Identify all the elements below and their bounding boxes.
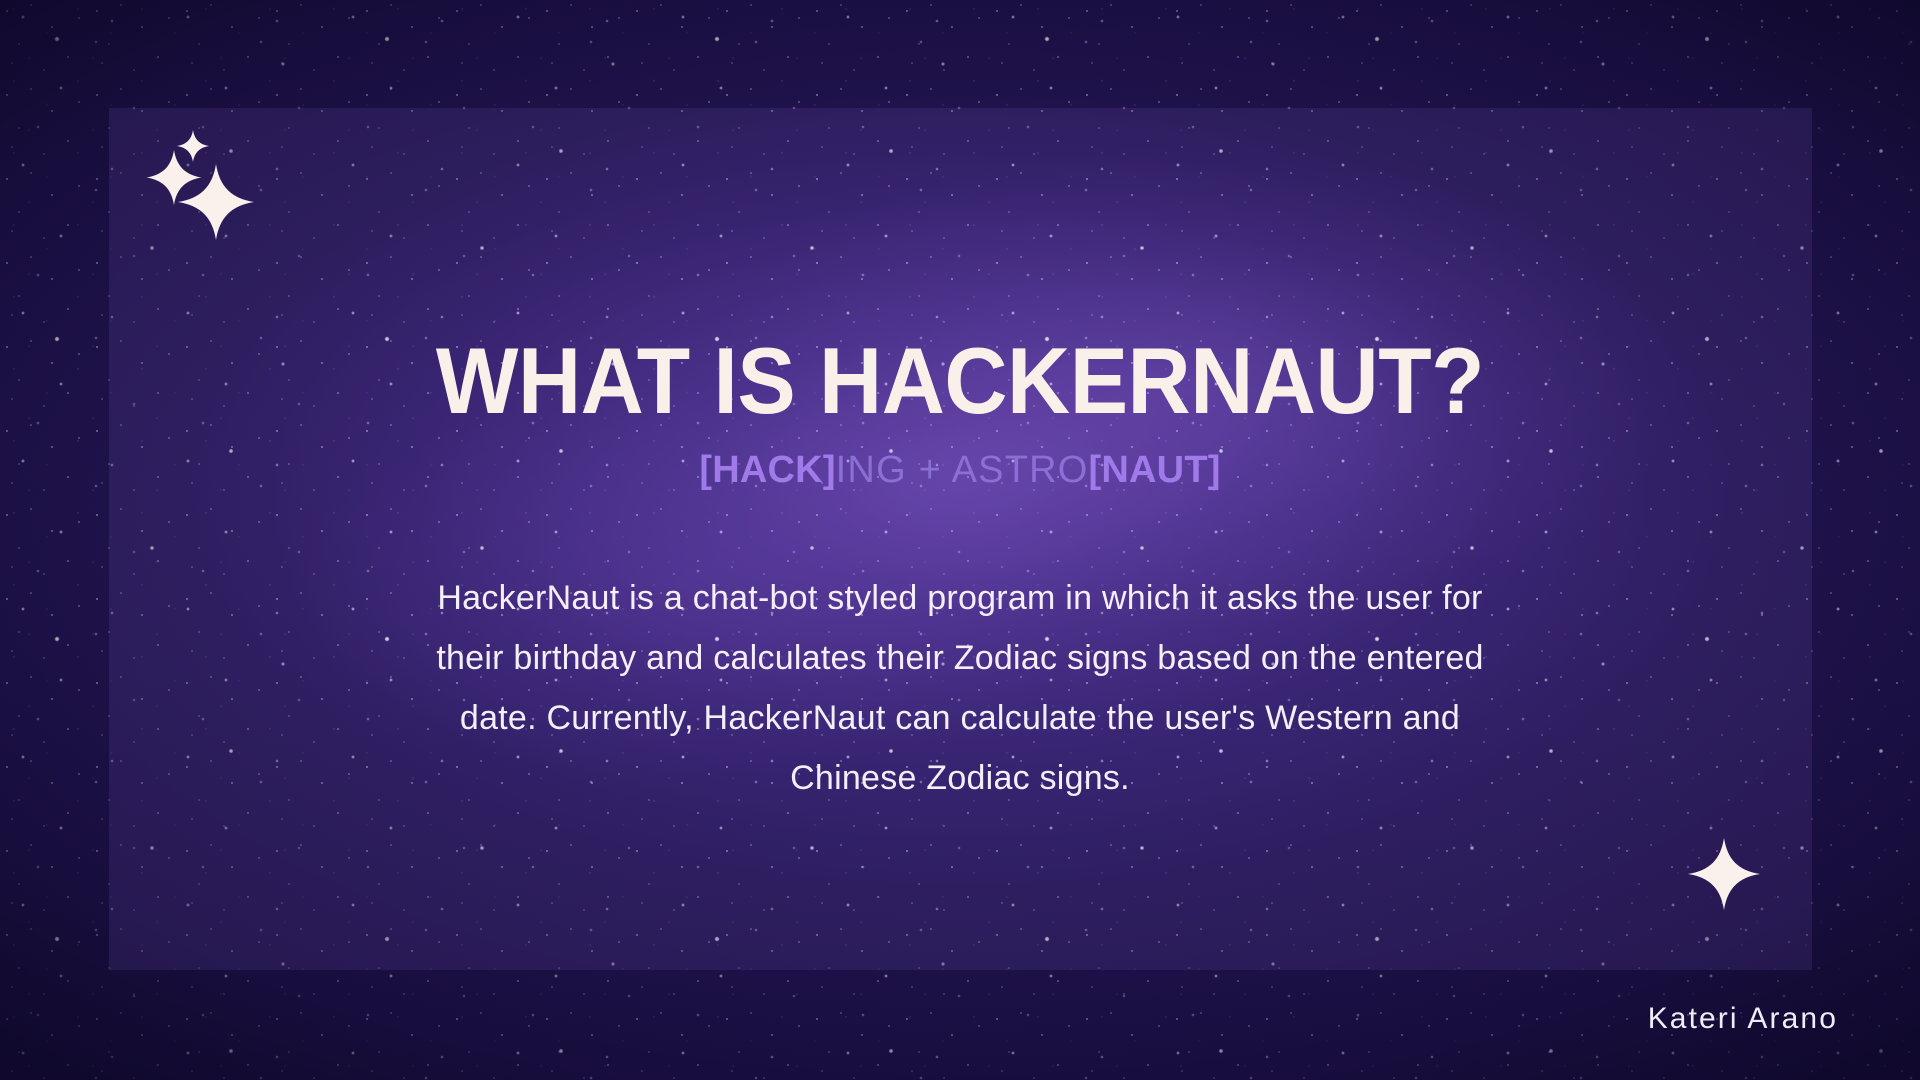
slide-body-text: HackerNaut is a chat-bot styled program … <box>246 568 1674 808</box>
subtitle-part-hack: [HACK] <box>699 449 835 491</box>
body-line-1: HackerNaut is a chat-bot styled program … <box>246 568 1674 628</box>
content-card <box>109 108 1812 970</box>
presentation-slide: WHAT IS HACKERNAUT? [HACK]ING + ASTRO[NA… <box>0 0 1920 1080</box>
body-line-4: Chinese Zodiac signs. <box>246 748 1674 808</box>
slide-subtitle: [HACK]ING + ASTRO[NAUT] <box>0 448 1920 494</box>
body-line-2: their birthday and calculates their Zodi… <box>246 628 1674 688</box>
subtitle-part-ing-astro: ING + ASTRO <box>836 449 1089 491</box>
author-credit: Kateri Arano <box>1648 1002 1838 1036</box>
body-line-3: date. Currently, HackerNaut can calculat… <box>246 688 1674 748</box>
subtitle-part-naut: [NAUT] <box>1089 449 1221 491</box>
slide-title: WHAT IS HACKERNAUT? <box>67 331 1853 431</box>
